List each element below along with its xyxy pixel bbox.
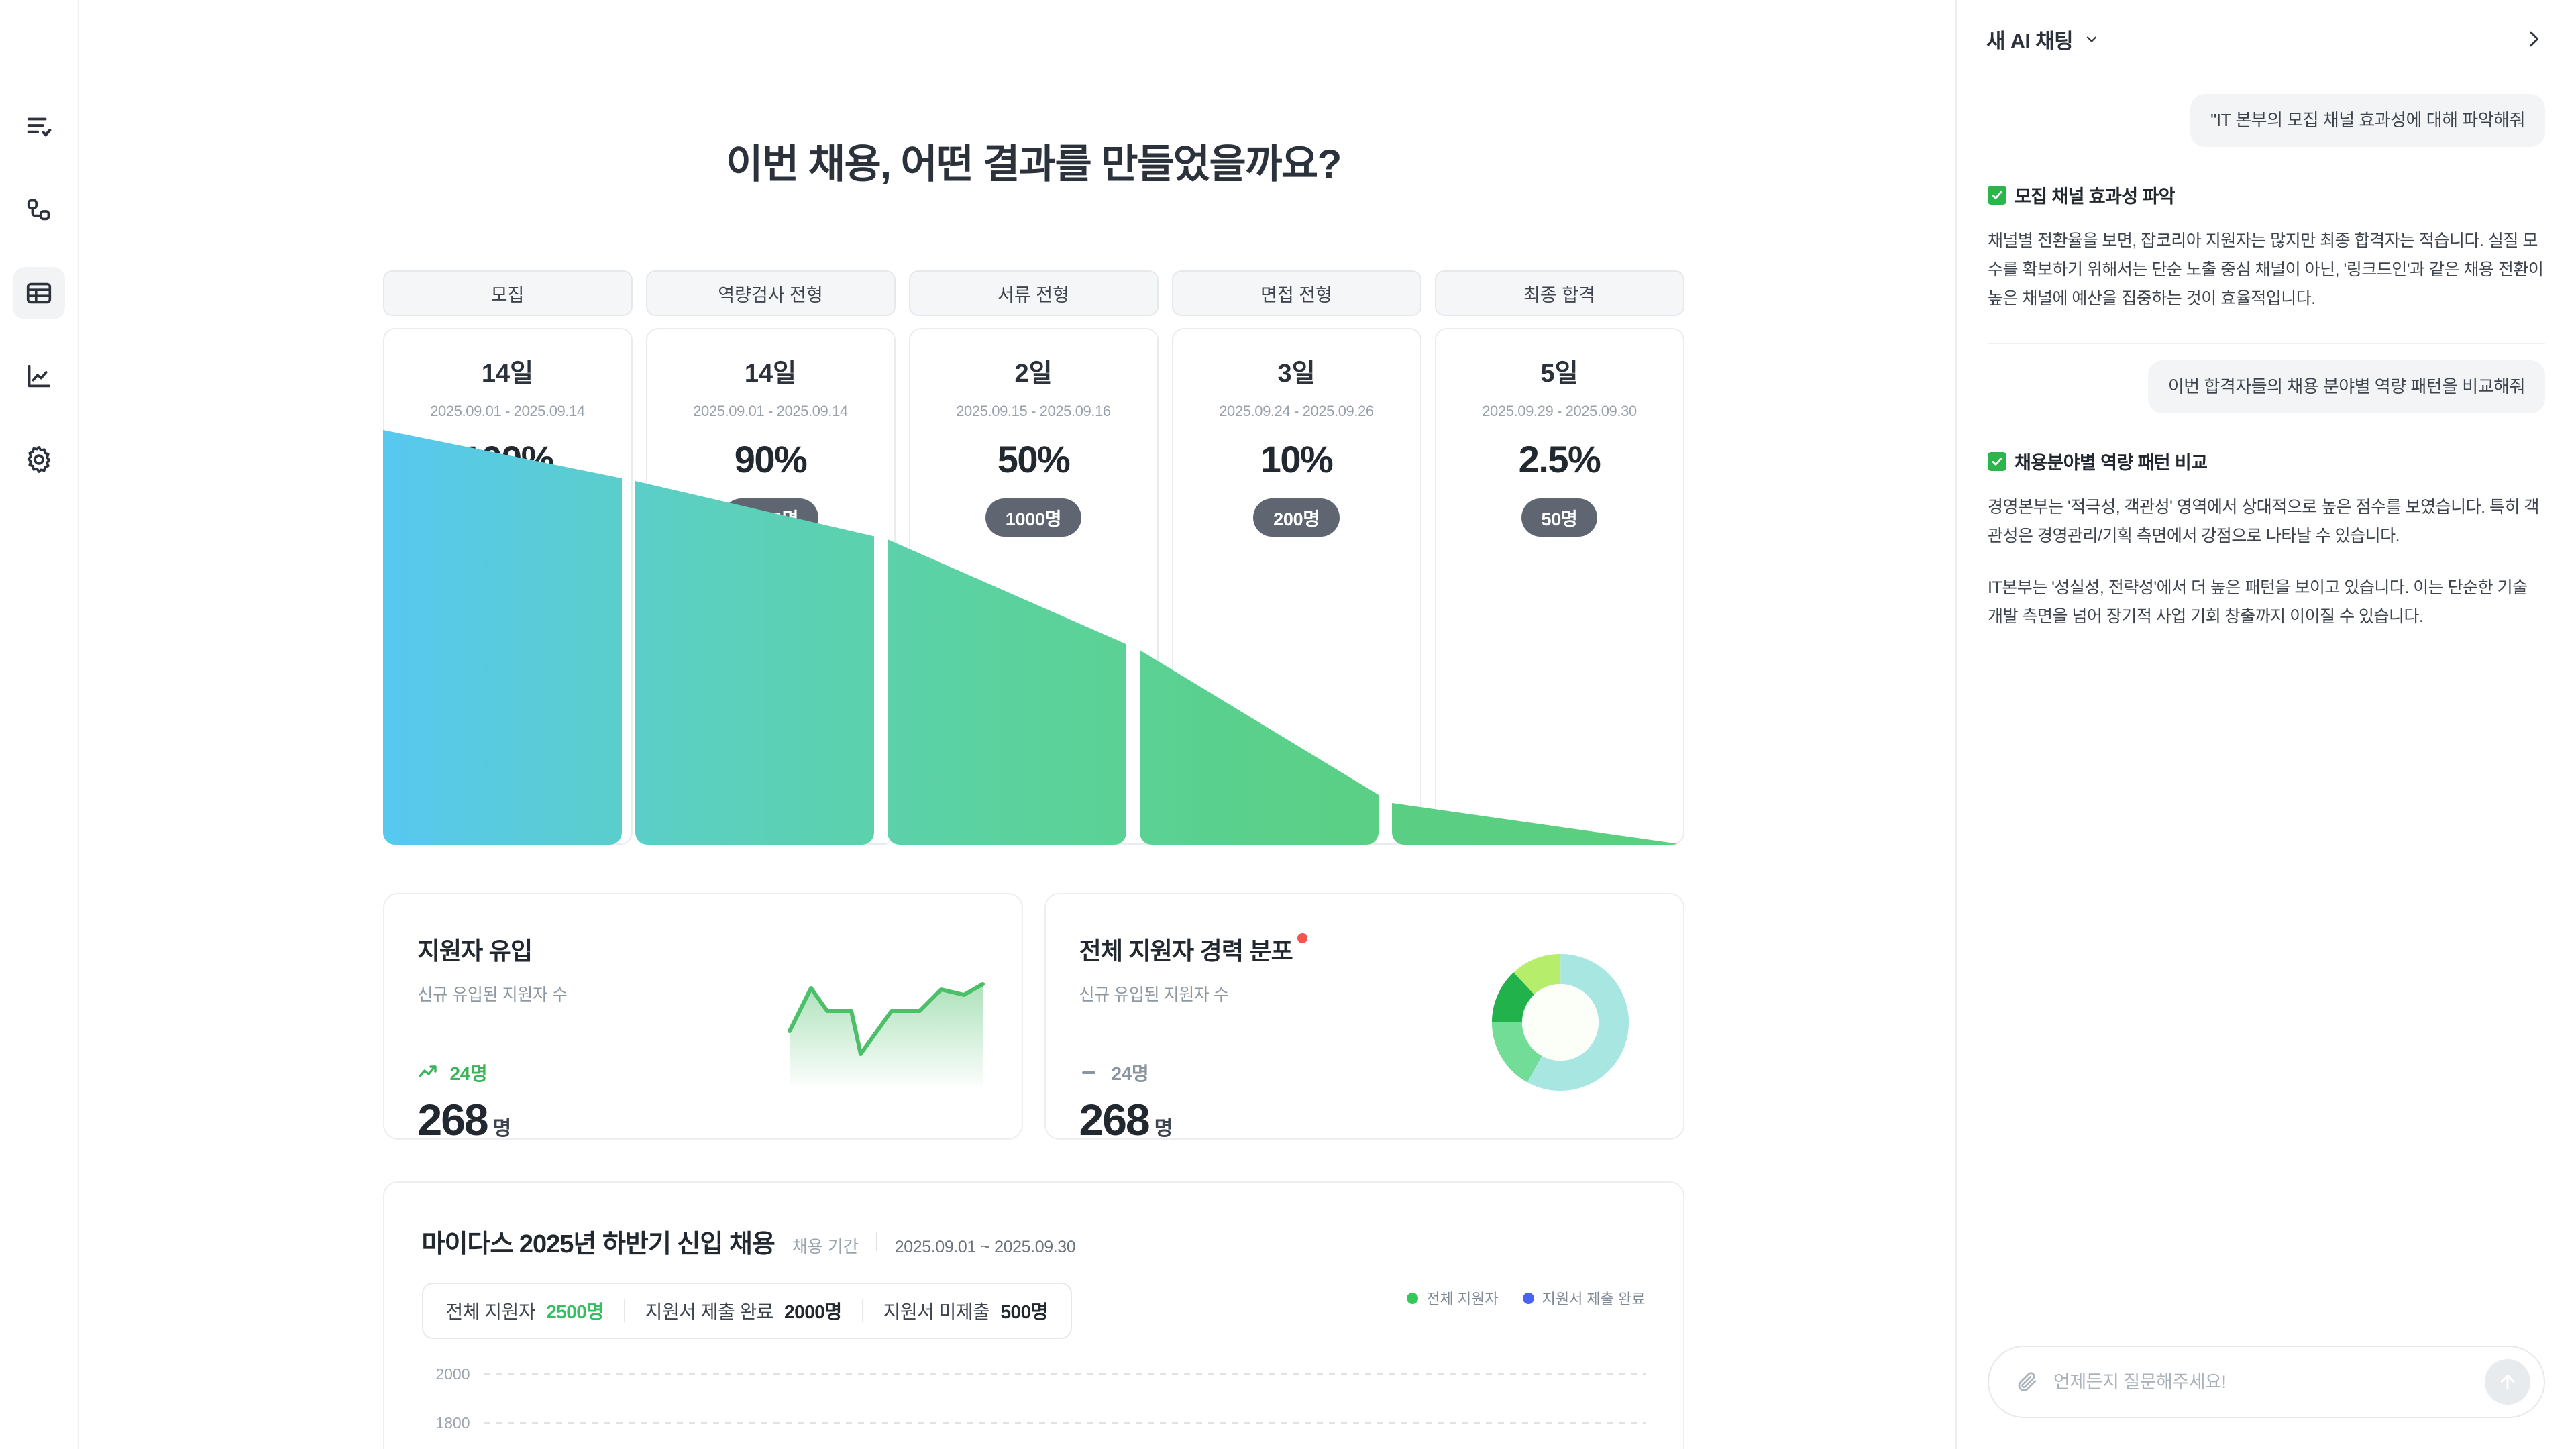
funnel-percent: 50% bbox=[998, 437, 1070, 481]
check-icon bbox=[1988, 186, 2006, 205]
chat-message-assistant: 모집 채널 효과성 파악 채널별 전환율을 보면, 잡코리아 지원자는 많지만 … bbox=[1988, 182, 2545, 344]
assistant-paragraph: 경영본부는 '적극성, 객관성' 영역에서 상대적으로 높은 점수를 보였습니다… bbox=[1988, 493, 2545, 551]
funnel-duration: 3일 bbox=[1277, 352, 1315, 389]
legend-item[interactable]: 전체 지원자 bbox=[1407, 1287, 1498, 1309]
metric-value: 268 bbox=[1079, 1094, 1149, 1140]
stat-value: 2500명 bbox=[546, 1297, 604, 1324]
divider bbox=[624, 1299, 625, 1322]
sidebar-item-checklist[interactable] bbox=[13, 101, 65, 153]
assistant-heading-text: 채용분야별 역량 패턴 비교 bbox=[2015, 448, 2207, 474]
chat-message-assistant: 채용분야별 역량 패턴 비교 경영본부는 '적극성, 객관성' 영역에서 상대적… bbox=[1988, 448, 2545, 631]
user-message-bubble: "IT 본부의 모집 채널 효과성에 대해 파악해줘 bbox=[2190, 94, 2545, 147]
period-label: 채용 기간 bbox=[792, 1234, 859, 1258]
stat-label: 전체 지원자 bbox=[446, 1297, 536, 1324]
metric-value-row: 268 명 bbox=[418, 1094, 988, 1140]
stat-item: 지원서 미제출 500명 bbox=[883, 1297, 1048, 1324]
metric-title: 지원자 유입 bbox=[418, 932, 533, 967]
metric-delta-value: 24명 bbox=[450, 1059, 488, 1086]
funnel-percent: 2.5% bbox=[1519, 437, 1601, 481]
funnel-stage-cards: 14일 2025.09.01 - 2025.09.14 100% 2000명 1… bbox=[383, 328, 1684, 845]
funnel-count-badge: 1000명 bbox=[985, 498, 1081, 537]
main-content: 이번 채용, 어떤 결과를 만들었을까요? 모집 역량검사 전형 서류 전형 면… bbox=[79, 0, 1955, 1449]
funnel-count-badge: 2000명 bbox=[460, 498, 555, 537]
stat-value: 500명 bbox=[1000, 1297, 1047, 1324]
metric-value: 268 bbox=[418, 1094, 488, 1140]
trend-flat-icon bbox=[1079, 1064, 1102, 1081]
ai-composer bbox=[1957, 1346, 2576, 1449]
assistant-heading: 모집 채널 효과성 파악 bbox=[1988, 182, 2545, 208]
sidebar-item-table[interactable] bbox=[13, 267, 65, 319]
funnel-duration: 14일 bbox=[482, 352, 533, 389]
funnel-stage-header[interactable]: 면접 전형 bbox=[1172, 270, 1421, 316]
metric-value-row: 268 명 bbox=[1079, 1094, 1650, 1140]
legend-label: 지원서 제출 완료 bbox=[1542, 1287, 1646, 1309]
stat-label: 지원서 미제출 bbox=[883, 1297, 990, 1324]
panel-title: 마이다스 2025년 하반기 신입 채용 bbox=[422, 1223, 775, 1260]
funnel-duration: 2일 bbox=[1014, 352, 1052, 389]
recruitment-detail-panel: 마이다스 2025년 하반기 신입 채용 채용 기간 2025.09.01 ~ … bbox=[383, 1181, 1684, 1449]
funnel-stage-headers: 모집 역량검사 전형 서류 전형 면접 전형 최종 합격 bbox=[383, 270, 1684, 316]
metric-unit: 명 bbox=[493, 1112, 512, 1140]
table-icon bbox=[23, 278, 54, 309]
legend-label: 전체 지원자 bbox=[1426, 1287, 1498, 1309]
gridline-row: 2000 bbox=[422, 1365, 1646, 1383]
chat-message-user: "IT 본부의 모집 채널 효과성에 대해 파악해줘 bbox=[1988, 94, 2545, 147]
funnel-date-range: 2025.09.24 - 2025.09.26 bbox=[1219, 402, 1374, 420]
sidebar-item-settings[interactable] bbox=[13, 433, 65, 486]
funnel-date-range: 2025.09.01 - 2025.09.14 bbox=[430, 402, 585, 420]
funnel-percent: 10% bbox=[1260, 437, 1333, 481]
assistant-heading-text: 모집 채널 효과성 파악 bbox=[2015, 182, 2175, 208]
assistant-paragraph: 채널별 전환율을 보면, 잡코리아 지원자는 많지만 최종 합격자는 적습니다.… bbox=[1988, 227, 2545, 313]
funnel-stage-header[interactable]: 서류 전형 bbox=[909, 270, 1159, 316]
alert-dot-icon bbox=[1297, 933, 1307, 943]
gridline-row: 1800 bbox=[422, 1414, 1646, 1432]
funnel-stage-card[interactable]: 5일 2025.09.29 - 2025.09.30 2.5% 50명 bbox=[1435, 328, 1684, 845]
paperclip-icon[interactable] bbox=[2016, 1371, 2039, 1393]
sidebar-item-analytics[interactable] bbox=[13, 350, 65, 402]
funnel-stage-header[interactable]: 모집 bbox=[383, 270, 633, 316]
assistant-paragraph: IT본부는 '성실성, 전략성'에서 더 높은 패턴을 보이고 있습니다. 이는… bbox=[1988, 574, 2545, 631]
send-button[interactable] bbox=[2485, 1359, 2530, 1405]
page-title: 이번 채용, 어떤 결과를 만들었을까요? bbox=[79, 131, 1955, 190]
funnel-percent: 100% bbox=[462, 437, 553, 481]
sparkline-chart bbox=[786, 959, 987, 1089]
applicant-trend-chart: 2000 1800 bbox=[422, 1350, 1646, 1449]
metric-card-career-distribution[interactable]: 전체 지원자 경력 분포 신규 유입된 지원자 수 24명 268 bbox=[1044, 893, 1684, 1140]
metric-title: 전체 지원자 경력 분포 bbox=[1079, 932, 1293, 967]
stat-value: 2000명 bbox=[784, 1297, 842, 1324]
ai-input-bar[interactable] bbox=[1988, 1346, 2545, 1418]
trend-up-icon bbox=[418, 1064, 441, 1081]
divider bbox=[876, 1232, 877, 1251]
divider bbox=[1988, 343, 2545, 344]
legend-swatch bbox=[1407, 1293, 1418, 1304]
metric-delta-value: 24명 bbox=[1112, 1059, 1149, 1086]
funnel-duration: 5일 bbox=[1540, 352, 1578, 389]
ai-chat-selector[interactable]: 새 AI 채팅 bbox=[1986, 24, 2100, 54]
ai-message-list: "IT 본부의 모집 채널 효과성에 대해 파악해줘 모집 채널 효과성 파악 … bbox=[1957, 78, 2576, 1346]
funnel-count-badge: 50명 bbox=[1521, 498, 1598, 537]
assistant-heading: 채용분야별 역량 패턴 비교 bbox=[1988, 448, 2545, 474]
metric-unit: 명 bbox=[1155, 1112, 1173, 1140]
user-message-bubble: 이번 합격자들의 채용 분야별 역량 패턴을 비교해줘 bbox=[2148, 360, 2545, 413]
y-axis-tick: 1800 bbox=[422, 1414, 470, 1432]
stat-item: 지원서 제출 완료 2000명 bbox=[645, 1297, 842, 1324]
workflow-icon bbox=[23, 195, 54, 225]
funnel-date-range: 2025.09.01 - 2025.09.14 bbox=[693, 402, 848, 420]
recruitment-funnel-chart: 모집 역량검사 전형 서류 전형 면접 전형 최종 합격 14일 2025.09… bbox=[383, 270, 1684, 845]
funnel-stage-card[interactable]: 3일 2025.09.24 - 2025.09.26 10% 200명 bbox=[1172, 328, 1421, 845]
legend-item[interactable]: 지원서 제출 완료 bbox=[1523, 1287, 1646, 1309]
stat-item: 전체 지원자 2500명 bbox=[446, 1297, 604, 1324]
funnel-count-badge: 200명 bbox=[1253, 498, 1340, 537]
collapse-panel-icon[interactable] bbox=[2522, 28, 2545, 50]
funnel-percent: 90% bbox=[735, 437, 807, 481]
check-icon bbox=[1988, 452, 2006, 471]
ai-chat-title: 새 AI 채팅 bbox=[1986, 24, 2073, 54]
funnel-stage-card[interactable]: 14일 2025.09.01 - 2025.09.14 100% 2000명 bbox=[383, 328, 633, 845]
funnel-count-badge: 1800명 bbox=[722, 498, 818, 537]
divider bbox=[862, 1299, 863, 1322]
metric-cards-row: 지원자 유입 신규 유입된 지원자 수 24명 268 명 bbox=[383, 893, 1684, 1140]
funnel-duration: 14일 bbox=[745, 352, 796, 389]
gridline bbox=[484, 1373, 1646, 1375]
panel-header: 마이다스 2025년 하반기 신입 채용 채용 기간 2025.09.01 ~ … bbox=[422, 1223, 1646, 1260]
chevron-down-icon[interactable] bbox=[2084, 31, 2100, 47]
chat-input[interactable] bbox=[2053, 1372, 2470, 1393]
sidebar-item-workflow[interactable] bbox=[13, 184, 65, 236]
stats-summary-box: 전체 지원자 2500명 지원서 제출 완료 2000명 지원서 미제출 500… bbox=[422, 1283, 1072, 1339]
checklist-icon bbox=[23, 111, 54, 142]
line-chart-icon bbox=[23, 361, 54, 392]
funnel-date-range: 2025.09.29 - 2025.09.30 bbox=[1482, 402, 1637, 420]
ai-panel-header: 새 AI 채팅 bbox=[1957, 0, 2576, 78]
metric-title-text: 전체 지원자 경력 분포 bbox=[1079, 937, 1293, 965]
ai-chat-panel: 새 AI 채팅 "IT 본부의 모집 채널 효과성에 대해 파악해줘 bbox=[1955, 0, 2576, 1449]
y-axis-tick: 2000 bbox=[422, 1365, 470, 1383]
gridline bbox=[484, 1422, 1646, 1424]
period-value: 2025.09.01 ~ 2025.09.30 bbox=[895, 1238, 1076, 1257]
funnel-date-range: 2025.09.15 - 2025.09.16 bbox=[956, 402, 1111, 420]
funnel-stage-card[interactable]: 14일 2025.09.01 - 2025.09.14 90% 1800명 bbox=[646, 328, 896, 845]
legend-swatch bbox=[1523, 1293, 1534, 1304]
donut-chart bbox=[1490, 952, 1631, 1096]
funnel-stage-card[interactable]: 2일 2025.09.15 - 2025.09.16 50% 1000명 bbox=[909, 328, 1159, 845]
gear-icon bbox=[23, 444, 54, 475]
chart-legend: 전체 지원자 지원서 제출 완료 bbox=[1407, 1287, 1645, 1309]
stat-label: 지원서 제출 완료 bbox=[645, 1297, 773, 1324]
chat-message-user: 이번 합격자들의 채용 분야별 역량 패턴을 비교해줘 bbox=[1988, 360, 2545, 413]
sidebar-rail bbox=[0, 0, 79, 1449]
funnel-stage-header[interactable]: 역량검사 전형 bbox=[646, 270, 896, 316]
metric-card-applicant-inflow[interactable]: 지원자 유입 신규 유입된 지원자 수 24명 268 명 bbox=[383, 893, 1023, 1140]
funnel-stage-header[interactable]: 최종 합격 bbox=[1435, 270, 1684, 316]
